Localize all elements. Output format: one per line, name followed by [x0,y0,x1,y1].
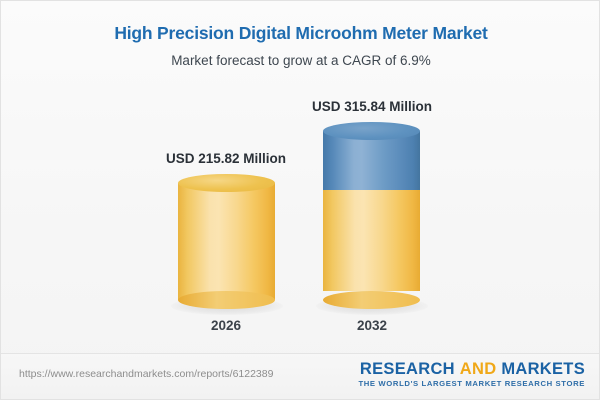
bar-segment-base-2032 [323,190,420,291]
logo-word-markets: MARKETS [501,360,585,378]
logo-tagline: THE WORLD'S LARGEST MARKET RESEARCH STOR… [358,378,585,389]
bar-cylinder-2032[interactable] [323,122,420,309]
bar-body-2026 [178,183,275,300]
logo-word-and: AND [460,360,497,378]
report-url[interactable]: https://www.researchandmarkets.com/repor… [19,368,273,380]
bar-cylinder-2026[interactable] [178,174,275,309]
logo-wordmark: RESEARCH AND MARKETS [358,360,585,378]
logo-word-research: RESEARCH [360,360,455,378]
bar-bottom-cap-2026 [178,291,275,309]
chart-card: High Precision Digital Microohm Meter Ma… [0,0,600,400]
footer-bar: https://www.researchandmarkets.com/repor… [1,353,600,399]
research-and-markets-logo[interactable]: RESEARCH AND MARKETS THE WORLD'S LARGEST… [358,360,585,389]
bar-value-label-2026: USD 215.82 Million [106,151,346,166]
category-label-2032: 2032 [252,318,492,333]
plot-area: USD 215.82 Million 2026 USD 315.84 Milli… [1,1,600,356]
bar-top-ellipse-2032 [323,122,420,140]
bar-top-ellipse-2026 [178,174,275,192]
bar-bottom-cap-2032 [323,291,420,309]
bar-value-label-2032: USD 315.84 Million [252,99,492,114]
